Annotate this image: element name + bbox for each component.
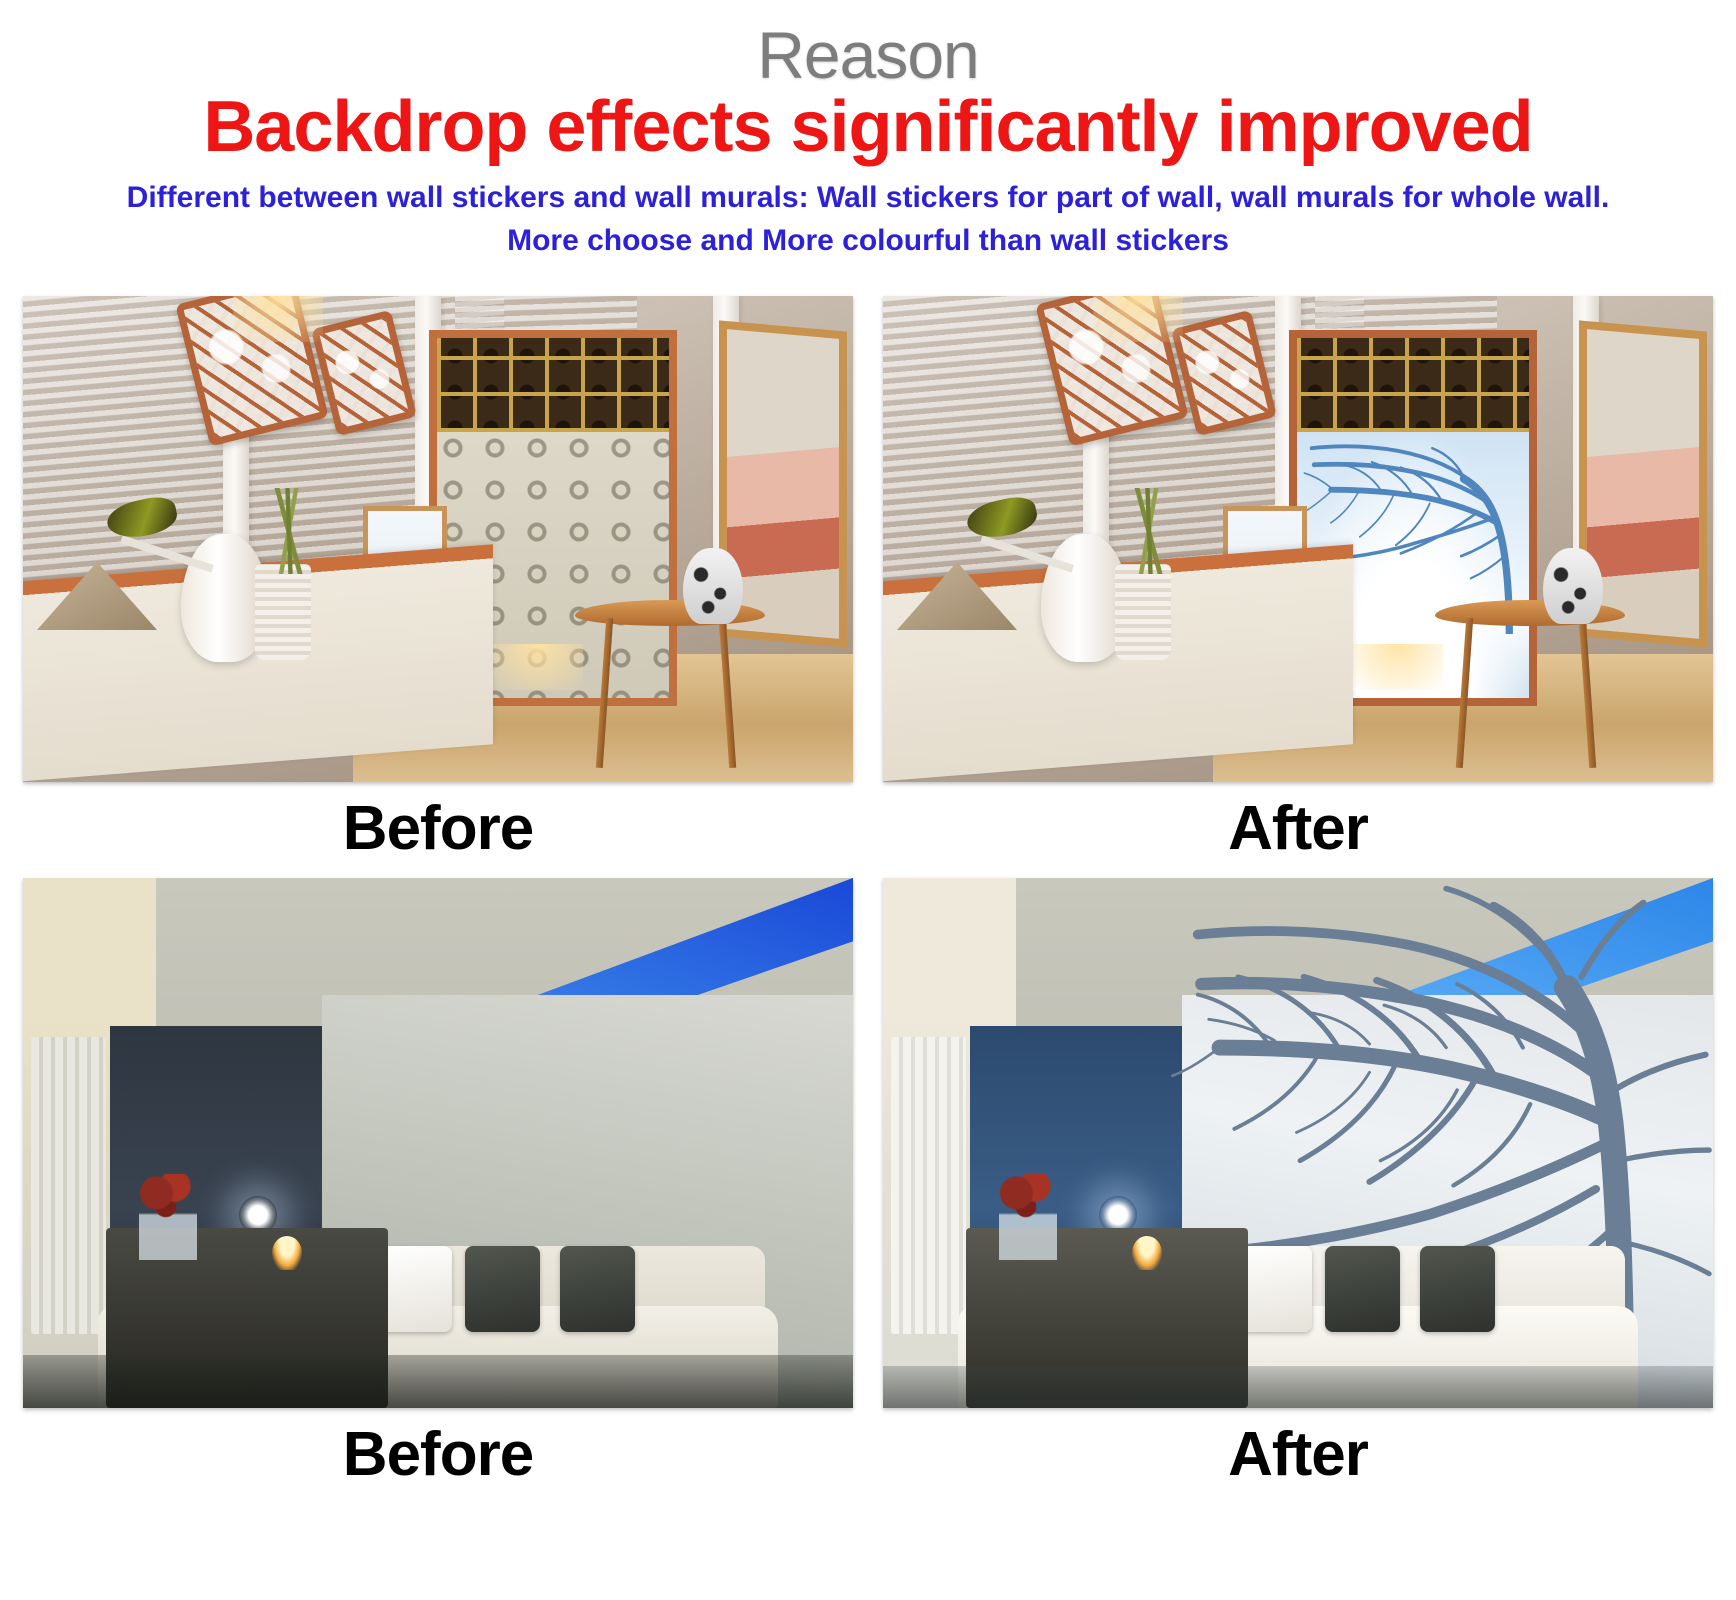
floor-light-pool xyxy=(493,644,583,690)
candle xyxy=(1132,1236,1162,1270)
side-table-leg xyxy=(719,618,736,768)
photo-hallway-after xyxy=(883,296,1713,782)
page-title: Backdrop effects significantly improved xyxy=(0,90,1736,166)
caption-before: Before xyxy=(23,1408,853,1486)
flower-vase xyxy=(999,1174,1057,1260)
comparison-cell-hallway-after: After xyxy=(883,296,1713,860)
cushion xyxy=(1325,1246,1400,1332)
candle xyxy=(272,1236,302,1270)
decor-bowl xyxy=(1543,548,1603,624)
comparison-cell-living-before: Before xyxy=(23,878,853,1486)
side-table-leg xyxy=(596,618,613,768)
ribbed-planter xyxy=(1115,564,1171,660)
lattice-transom xyxy=(437,338,669,437)
floor-shadow xyxy=(23,1355,853,1408)
ribbed-planter xyxy=(255,564,311,660)
side-table-leg xyxy=(1456,618,1473,768)
radiator xyxy=(31,1037,106,1334)
photo-hallway-before xyxy=(23,296,853,782)
lattice-transom xyxy=(1297,338,1529,437)
subtitle-line-2: More choose and More colourful than wall… xyxy=(28,219,1708,263)
comparison-cell-living-after: After xyxy=(883,878,1713,1486)
cushion xyxy=(1420,1246,1495,1332)
flower-vase xyxy=(139,1174,197,1260)
side-table xyxy=(1435,600,1625,768)
cushion xyxy=(560,1246,635,1332)
side-table-leg xyxy=(1579,618,1596,768)
comparison-grid: Before xyxy=(0,296,1736,1486)
header-block: Reason Backdrop effects significantly im… xyxy=(0,0,1736,263)
subtitle-block: Different between wall stickers and wall… xyxy=(0,176,1736,263)
cushion xyxy=(465,1246,540,1332)
caption-after: After xyxy=(883,782,1713,860)
subtitle-line-1: Different between wall stickers and wall… xyxy=(127,181,1610,214)
floor-light-pool xyxy=(1353,644,1443,690)
radiator xyxy=(891,1037,966,1334)
comparison-row-living-room: Before xyxy=(0,878,1736,1486)
plant xyxy=(1119,488,1179,574)
comparison-row-hallway: Before xyxy=(0,296,1736,860)
caption-after: After xyxy=(883,1408,1713,1486)
floor-shadow xyxy=(883,1366,1713,1408)
photo-living-after xyxy=(883,878,1713,1408)
photo-living-before xyxy=(23,878,853,1408)
comparison-cell-hallway-before: Before xyxy=(23,296,853,860)
side-table xyxy=(575,600,765,768)
plant xyxy=(259,488,319,574)
decor-bowl xyxy=(683,548,743,624)
caption-before: Before xyxy=(23,782,853,860)
ceiling-downlight xyxy=(1093,296,1183,342)
ceiling-downlight xyxy=(233,296,323,342)
eyebrow-title: Reason xyxy=(0,0,1736,88)
